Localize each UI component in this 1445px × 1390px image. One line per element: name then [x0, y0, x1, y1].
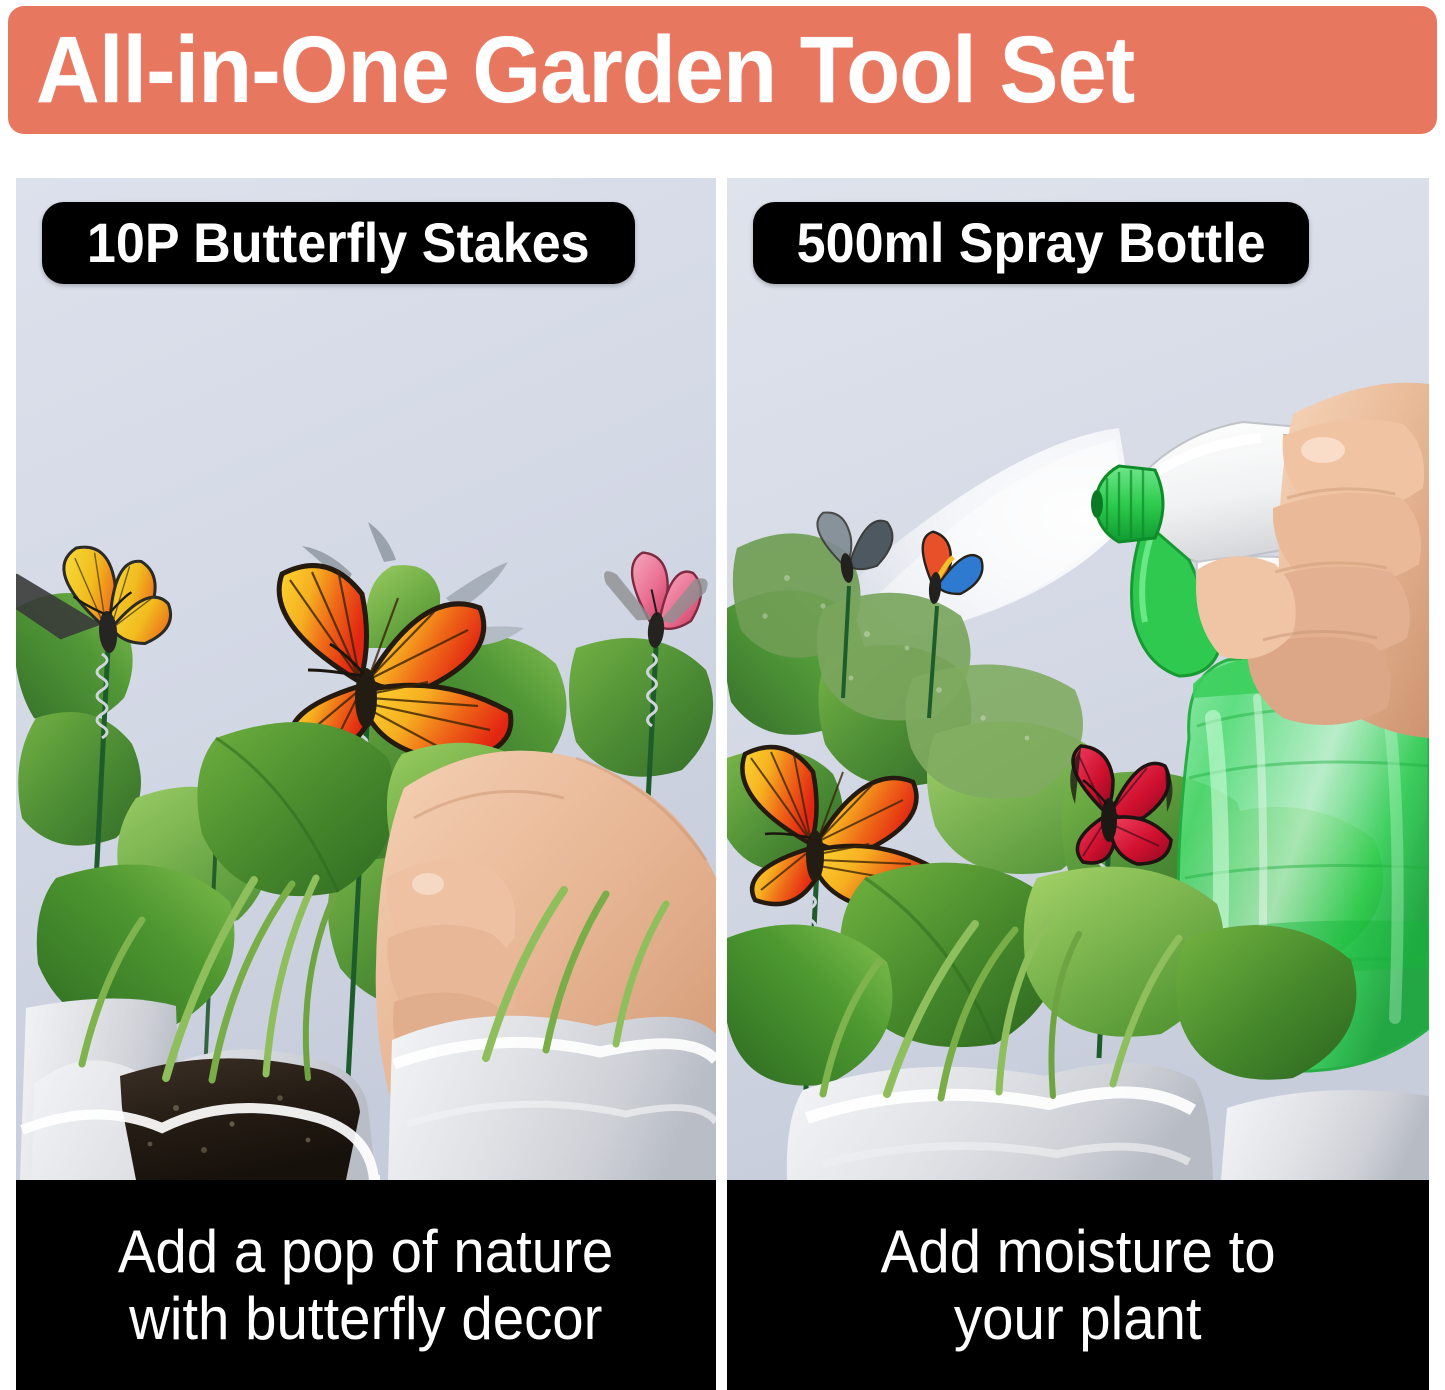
product-infographic: All-in-One Garden Tool Set	[0, 0, 1445, 1390]
badge-butterfly-stakes: 10P Butterfly Stakes	[42, 202, 635, 284]
badge-spray-bottle-label: 500ml Spray Bottle	[797, 215, 1266, 271]
caption-spray-bottle: Add moisture to your plant	[727, 1180, 1429, 1390]
photo-butterfly-stakes	[16, 178, 716, 1180]
caption-line-1: Add moisture to	[880, 1218, 1275, 1285]
page-title: All-in-One Garden Tool Set	[36, 23, 1134, 118]
photo-spray-bottle	[727, 178, 1429, 1180]
caption-line-1: Add a pop of nature	[118, 1218, 613, 1285]
photo-butterfly-stakes-illustration	[16, 178, 716, 1180]
panel-butterfly-stakes: 10P Butterfly Stakes Add a pop of nature…	[16, 178, 716, 1390]
header-banner: All-in-One Garden Tool Set	[8, 6, 1437, 134]
panel-row: 10P Butterfly Stakes Add a pop of nature…	[0, 178, 1445, 1390]
fingernail	[1301, 437, 1345, 463]
photo-spray-bottle-illustration	[727, 178, 1429, 1180]
caption-line-2: with butterfly decor	[129, 1285, 602, 1352]
caption-line-2: your plant	[954, 1285, 1202, 1352]
nozzle-tip	[1091, 490, 1103, 518]
panel-spray-bottle: 500ml Spray Bottle Add moisture to your …	[727, 178, 1429, 1390]
badge-spray-bottle: 500ml Spray Bottle	[753, 202, 1309, 284]
badge-butterfly-stakes-label: 10P Butterfly Stakes	[87, 215, 590, 271]
caption-butterfly-stakes: Add a pop of nature with butterfly decor	[16, 1180, 716, 1390]
